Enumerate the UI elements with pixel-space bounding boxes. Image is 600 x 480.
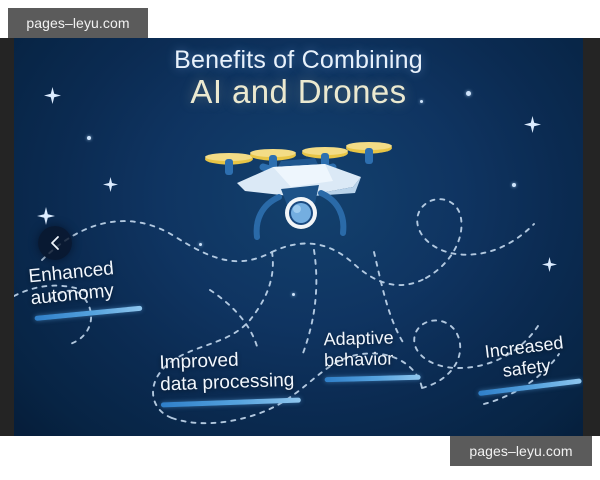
slide-canvas: Benefits of Combining AI and Drones bbox=[14, 38, 583, 436]
drone-camera-lens bbox=[291, 203, 311, 223]
watermark-bottom: pages–leyu.com bbox=[450, 436, 592, 466]
slide-image-card: Benefits of Combining AI and Drones bbox=[0, 38, 600, 436]
drone-illustration bbox=[203, 131, 393, 246]
carousel-prev-button[interactable] bbox=[38, 226, 72, 260]
image-right-border bbox=[583, 38, 600, 436]
benefit-label-improved-data-processing: Improved data processing bbox=[159, 348, 301, 408]
benefit-line-2: behavior bbox=[324, 348, 421, 371]
chevron-left-icon bbox=[49, 235, 62, 251]
slide-title: Benefits of Combining AI and Drones bbox=[14, 46, 583, 110]
watermark-top: pages–leyu.com bbox=[8, 8, 148, 38]
benefit-line-1: Adaptive bbox=[323, 327, 420, 350]
title-line-primary: Benefits of Combining bbox=[14, 46, 583, 74]
benefit-label-adaptive-behavior: Adaptive behavior bbox=[323, 327, 420, 382]
benefit-label-enhanced-autonomy: Enhanced autonomy bbox=[28, 256, 143, 321]
benefit-line-2: data processing bbox=[160, 370, 301, 397]
image-left-border bbox=[0, 38, 14, 436]
title-line-secondary: AI and Drones bbox=[14, 74, 583, 110]
